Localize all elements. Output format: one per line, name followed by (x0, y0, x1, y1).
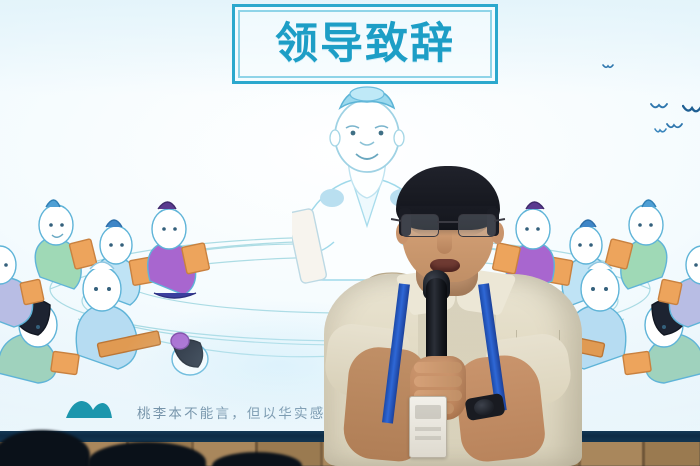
screenshot-root: 领导致辞 (0, 0, 700, 466)
bird-icon (666, 122, 683, 132)
bird-icon (682, 104, 700, 118)
id-badge (409, 396, 447, 458)
hill-icon (66, 396, 112, 418)
finger (414, 376, 462, 387)
bird-icon (602, 64, 614, 72)
glasses-icon (398, 212, 500, 238)
speaker-figure (306, 160, 606, 466)
bird-icon (650, 102, 668, 113)
glasses-bridge (437, 221, 459, 223)
slide-title: 领导致辞 (275, 23, 455, 66)
bird-flock (570, 58, 700, 170)
lens-right (458, 214, 496, 237)
illustration-students-left (0, 185, 244, 385)
slide-title-plate: 领导致辞 (232, 4, 498, 84)
finger (414, 362, 462, 373)
lens-left (401, 214, 439, 237)
glasses-temple-right (494, 218, 505, 221)
bird-icon (654, 128, 667, 136)
